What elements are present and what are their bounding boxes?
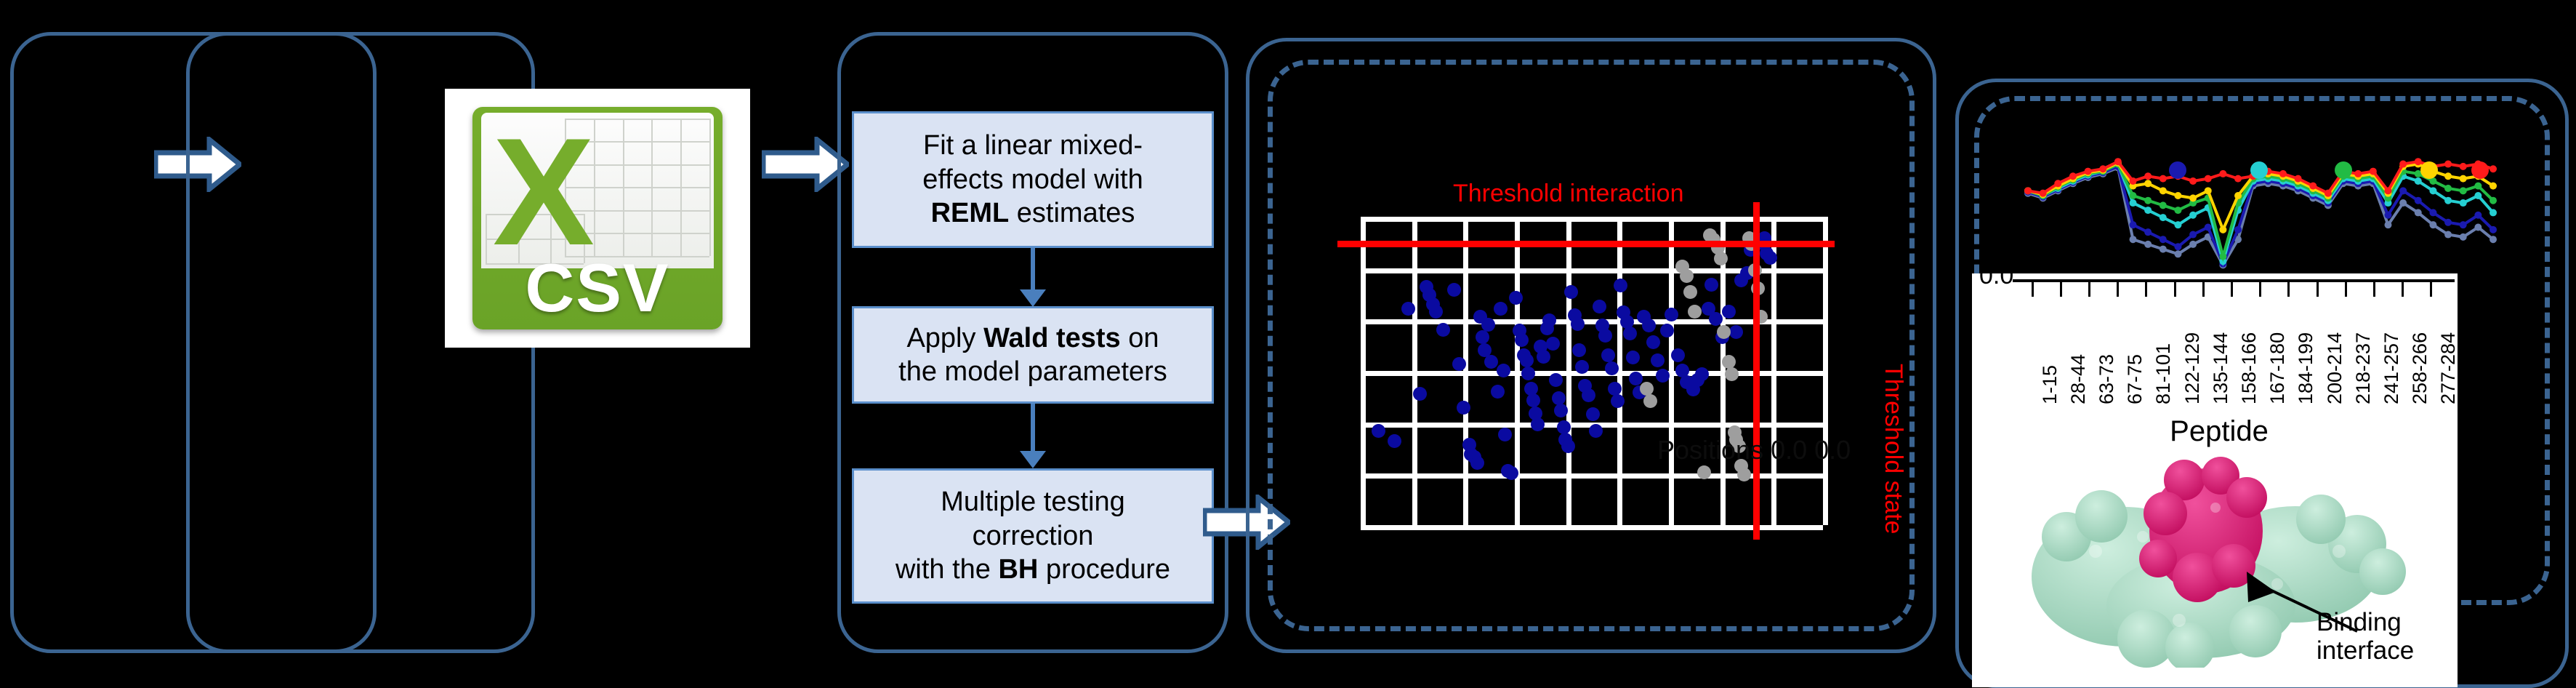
peptide-series-marker	[2384, 187, 2391, 194]
scatter-point	[1429, 305, 1443, 319]
scatter-point	[1521, 367, 1535, 380]
peptide-series-marker	[2174, 221, 2181, 228]
scatter-point	[1564, 285, 1578, 299]
scatter-point	[1494, 302, 1508, 316]
csv-icon-body: X CSV	[472, 107, 723, 329]
peptide-line-chart	[1999, 138, 2508, 266]
scatter-point	[1575, 360, 1589, 374]
peptide-series-marker	[2144, 241, 2152, 248]
peptide-series-marker	[2295, 175, 2302, 183]
peptide-series-marker	[2460, 221, 2467, 228]
peptide-tick-label: 1-15	[2039, 365, 2061, 404]
peptide-series-marker	[2444, 231, 2452, 239]
scatter-point	[1509, 291, 1523, 305]
peptide-series-marker	[2279, 170, 2287, 177]
peptide-series-marker	[2219, 170, 2226, 177]
scatter-point	[1598, 329, 1612, 343]
peptide-series-marker	[2160, 246, 2167, 253]
peptide-series-marker	[2490, 226, 2497, 233]
scatter-point	[1643, 394, 1657, 408]
peptide-tick-label: 63-73	[2096, 354, 2118, 404]
peptide-series-marker	[2234, 226, 2242, 233]
scatter-point	[1582, 388, 1595, 402]
threshold-state-label: Threshold state	[1879, 364, 1907, 534]
peptide-series-marker	[2054, 180, 2061, 187]
peptide-series-marker	[2130, 221, 2137, 228]
peptide-series-marker	[2460, 187, 2467, 194]
peptide-series-marker	[2144, 172, 2152, 180]
peptide-series-marker	[2160, 201, 2167, 209]
peptide-tick-label: 218-237	[2352, 332, 2375, 404]
peptide-series-marker	[2205, 187, 2212, 194]
peptide-series-marker	[2189, 194, 2197, 201]
scatter-point	[1572, 343, 1586, 357]
peptide-series-marker	[2354, 170, 2362, 177]
peptide-series-marker	[2415, 177, 2422, 185]
scatter-point	[1557, 420, 1571, 434]
arrow-csv-to-analysis	[762, 137, 849, 192]
scatter-point	[1484, 355, 1498, 369]
peptide-series-marker	[2160, 214, 2167, 221]
scatter-point	[1683, 285, 1697, 299]
peptide-series-marker	[2460, 199, 2467, 207]
peptide-series-marker	[2444, 161, 2452, 168]
peptide-series-marker	[2160, 175, 2167, 183]
peptide-tick-label: 67-75	[2124, 354, 2146, 404]
peptide-series-marker	[2130, 236, 2137, 243]
peptide-series-marker	[2399, 161, 2407, 168]
scatter-point	[1608, 382, 1622, 396]
peptide-series-marker	[2219, 253, 2226, 260]
peptide-tick-label: 122-129	[2181, 332, 2204, 404]
scatter-point	[1531, 417, 1545, 431]
peptide-series-marker	[2099, 165, 2106, 172]
scatter-point	[1549, 373, 1563, 387]
scatter-point	[1388, 434, 1401, 448]
peptide-series-marker	[2325, 190, 2332, 197]
peptide-series-marker	[2144, 228, 2152, 236]
peptide-series-marker	[2490, 209, 2497, 216]
scatter-point	[1729, 325, 1743, 339]
scatter-point	[1626, 351, 1640, 364]
peptide-series-marker	[2444, 219, 2452, 226]
csv-format-label: CSV	[472, 249, 723, 327]
scatter-point	[1640, 382, 1654, 396]
scatter-point	[1671, 348, 1685, 362]
peptide-series-marker	[2160, 187, 2167, 194]
peptide-series-marker	[2474, 223, 2482, 231]
peptide-series-marker	[2174, 250, 2181, 257]
scatter-point	[1697, 465, 1711, 479]
scatter-point	[1571, 317, 1585, 331]
scatter-point	[1520, 353, 1534, 367]
volcano-scatter-plot	[1361, 217, 1823, 525]
scatter-point	[1470, 456, 1484, 470]
peptide-series-marker	[2429, 209, 2436, 216]
binding-interface-annotation: Binding interface	[2317, 608, 2414, 665]
scatter-point	[1554, 404, 1568, 417]
scatter-point	[1537, 350, 1550, 364]
threshold-state-line	[1753, 202, 1760, 540]
peptide-series-marker	[2234, 192, 2242, 199]
peptide-tick-label: 258-266	[2409, 332, 2431, 404]
peptide-series-marker	[2130, 199, 2137, 207]
scatter-point	[1623, 327, 1637, 340]
scatter-point	[1714, 252, 1728, 265]
step-box-bh-text: Multiple testingcorrectionwith the BH pr…	[895, 485, 1170, 586]
peptide-tick-label: 81-101	[2152, 343, 2175, 404]
peptide-series-marker	[2444, 172, 2452, 180]
peptide-series-marker	[2444, 197, 2452, 204]
legend-dot-2	[2250, 161, 2268, 179]
connector-arrowhead-2	[1020, 451, 1046, 468]
step-box-model: Fit a linear mixed-effects model withREM…	[852, 111, 1214, 248]
scatter-gridline-v	[1823, 217, 1828, 525]
scatter-point	[1491, 385, 1505, 399]
peptide-series-marker	[2114, 158, 2122, 165]
scatter-point	[1505, 466, 1518, 480]
scatter-point	[1413, 387, 1427, 401]
peptide-series-marker	[2174, 192, 2181, 199]
connector-wald-to-bh	[1031, 404, 1035, 455]
peptide-series-marker	[2234, 175, 2242, 183]
peptide-tick-label: 277-284	[2437, 332, 2458, 404]
scatter-point	[1737, 468, 1751, 481]
peptide-series-marker	[2160, 236, 2167, 243]
binding-interface-line2: interface	[2317, 636, 2414, 665]
connector-arrowhead-1	[1020, 289, 1046, 307]
peptide-series-marker	[2309, 183, 2317, 190]
scatter-point	[1586, 407, 1600, 421]
peptide-series-marker	[2205, 223, 2212, 231]
scatter-point	[1515, 333, 1529, 347]
step-box-wald: Apply Wald tests onthe model parameters	[852, 306, 1214, 404]
peptide-series-marker	[2174, 207, 2181, 214]
scatter-point	[1372, 424, 1385, 438]
connector-model-to-wald	[1031, 248, 1035, 293]
peptide-tick-label: 167-180	[2266, 332, 2289, 404]
scatter-point	[1614, 279, 1627, 292]
peptide-series-marker	[2460, 163, 2467, 170]
csv-x-letter: X	[493, 116, 576, 203]
step-box-model-text: Fit a linear mixed-effects model withREM…	[922, 129, 1143, 230]
scatter-point	[1497, 364, 1510, 377]
threshold-interaction-label: Threshold interaction	[1453, 180, 1684, 208]
scatter-point	[1546, 337, 1560, 351]
peptide-axis-title: Peptide	[2117, 415, 2321, 448]
scatter-point	[1447, 283, 1461, 297]
peptide-series-marker	[2189, 212, 2197, 219]
scatter-point	[1589, 424, 1603, 438]
peptide-series-marker	[2490, 165, 2497, 172]
peptide-series-marker	[2415, 158, 2422, 165]
scatter-point	[1401, 302, 1415, 316]
scatter-point	[1704, 278, 1718, 292]
scatter-point	[1680, 269, 1694, 283]
binding-interface-line1: Binding	[2317, 608, 2414, 636]
peptide-series-marker	[2069, 172, 2077, 180]
scatter-point	[1526, 393, 1540, 407]
peptide-series-marker	[2460, 233, 2467, 241]
peptide-series-marker	[2205, 175, 2212, 183]
peptide-series-marker	[2144, 207, 2152, 214]
peptide-series-marker	[2174, 243, 2181, 250]
scatter-point	[1605, 361, 1619, 375]
peptide-tick-label: 28-44	[2067, 354, 2090, 404]
scatter-point	[1476, 330, 1489, 344]
scatter-point	[1722, 355, 1736, 369]
scatter-point	[1651, 353, 1665, 367]
scatter-point	[1601, 348, 1615, 362]
peptide-series-marker	[2474, 212, 2482, 219]
scatter-point	[1688, 305, 1702, 319]
peptide-series-marker	[2384, 212, 2391, 219]
peptide-series-marker	[2144, 180, 2152, 187]
peptide-series-marker	[2085, 168, 2092, 175]
peptide-series-marker	[2189, 177, 2197, 185]
peptide-series-marker	[2415, 209, 2422, 216]
peptide-series-marker	[2399, 199, 2407, 207]
scatter-point	[1642, 319, 1656, 332]
peptide-tick-label: 158-166	[2238, 332, 2261, 404]
threshold-interaction-line	[1337, 241, 1835, 247]
legend-dot-3	[2335, 161, 2352, 179]
peptide-series-marker	[2490, 236, 2497, 243]
step-box-bh: Multiple testingcorrectionwith the BH pr…	[852, 468, 1214, 604]
peptide-series-marker	[2130, 192, 2137, 199]
peptide-series-marker	[2429, 187, 2436, 194]
peptide-tick-label: 184-199	[2295, 332, 2317, 404]
peptide-series-marker	[2024, 187, 2032, 194]
peptide-series-marker	[2370, 168, 2377, 175]
figure-canvas: X CSV Fit a linear mixed-effects model w…	[0, 0, 2576, 687]
scatter-point	[1722, 305, 1736, 319]
peptide-series-marker	[2144, 197, 2152, 204]
scatter-point	[1561, 439, 1575, 453]
scatter-point	[1725, 367, 1739, 381]
scatter-point	[1457, 401, 1470, 415]
scatter-point	[1436, 323, 1450, 337]
peptide-series-marker	[2460, 175, 2467, 183]
peptide-series-marker	[2399, 187, 2407, 194]
peptide-tick-label: 200-214	[2324, 332, 2346, 404]
step-box-wald-text: Apply Wald tests onthe model parameters	[898, 321, 1167, 389]
peptide-series-marker	[2474, 192, 2482, 199]
legend-dot-5	[2471, 161, 2489, 179]
peptide-tick-label: 135-144	[2210, 332, 2232, 404]
csv-file-icon: X CSV	[445, 89, 750, 348]
scatter-point	[1593, 300, 1606, 313]
peptide-series-marker	[2130, 177, 2137, 185]
scatter-point	[1763, 251, 1777, 265]
peptide-series-marker	[2189, 231, 2197, 239]
peptide-series-marker	[2444, 185, 2452, 192]
scatter-point	[1646, 335, 1660, 349]
csv-spreadsheet-graphic: X	[481, 113, 714, 268]
peptide-tick-label: 241-257	[2380, 332, 2403, 404]
volcano-ghost-axis-text: Positions 0.0 0.0	[1657, 435, 1851, 465]
peptide-series-marker	[2490, 197, 2497, 204]
legend-dot-4	[2420, 161, 2438, 179]
scatter-point	[1481, 318, 1495, 332]
peptide-white-card: 0.0 1-1528-4463-7367-7581-101122-129135-…	[1972, 273, 2458, 687]
scatter-point	[1665, 308, 1678, 321]
peptide-series-marker	[2384, 221, 2391, 228]
peptide-series-marker	[2429, 221, 2436, 228]
peptide-series-marker	[2415, 197, 2422, 204]
peptide-series-marker	[2219, 226, 2226, 233]
peptide-series-marker	[2490, 183, 2497, 190]
legend-dot-1	[2169, 161, 2186, 179]
scatter-point	[1629, 372, 1643, 385]
peptide-series-marker	[2040, 190, 2047, 197]
scatter-point	[1656, 369, 1670, 383]
scatter-point	[1498, 428, 1512, 441]
peptide-series-marker	[2474, 183, 2482, 190]
scatter-point	[1695, 367, 1709, 381]
scatter-point	[1542, 313, 1556, 327]
peptide-series-marker	[2189, 241, 2197, 248]
